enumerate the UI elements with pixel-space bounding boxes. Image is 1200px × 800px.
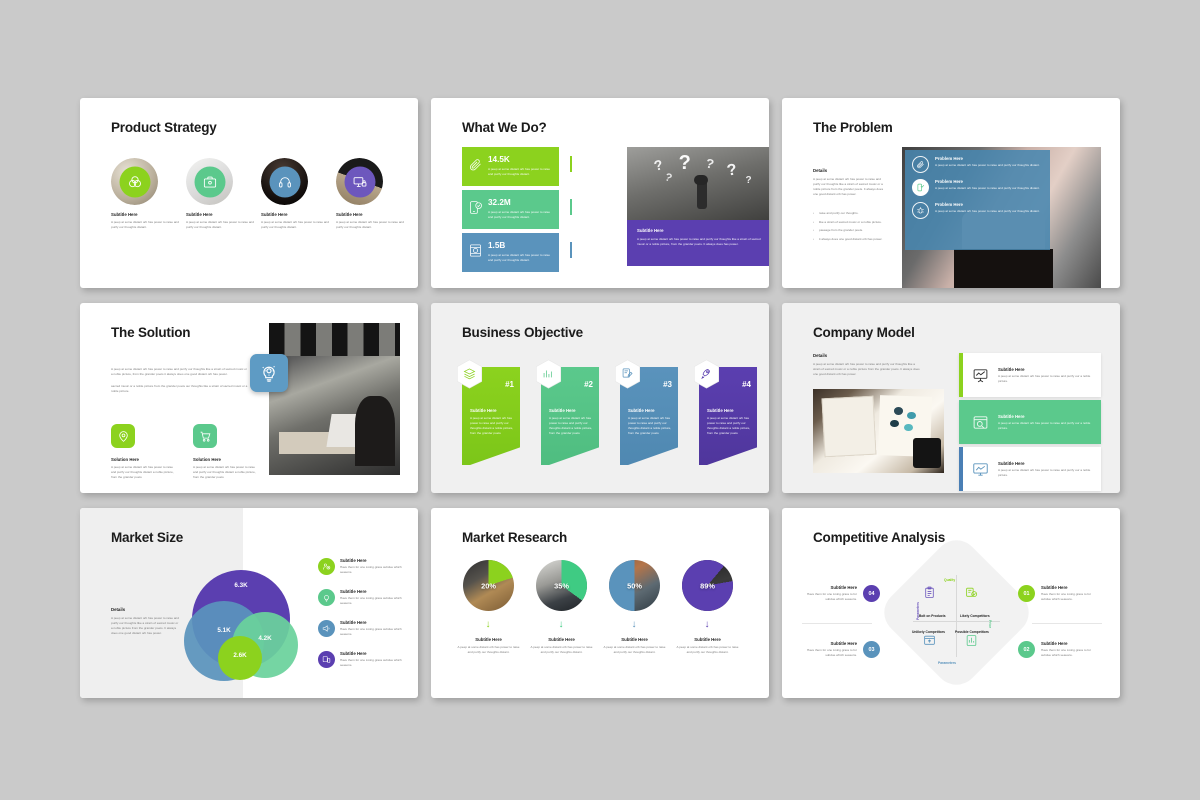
paperclip-icon bbox=[468, 157, 483, 177]
page-title: Market Research bbox=[462, 530, 567, 545]
page-title: Product Strategy bbox=[111, 120, 217, 135]
down-arrow-icon: ↓ bbox=[625, 620, 643, 630]
problem-bullet-list: raise and purify our thoughts. like a st… bbox=[813, 211, 888, 243]
objective-card[interactable]: #1 Subtitle Here A peep at some distant … bbox=[462, 367, 520, 465]
research-subtitle: Subtitle Here bbox=[676, 637, 739, 642]
axis-vertical bbox=[956, 575, 957, 657]
research-subtitle: Subtitle Here bbox=[457, 637, 520, 642]
stat-value: 32.2M bbox=[488, 199, 553, 207]
page-title: What We Do? bbox=[462, 120, 547, 135]
slide-business-objective[interactable]: Business Objective #1 Subtitle Here A pe… bbox=[431, 303, 769, 493]
analysis-text: Have them for one Living grass to for su… bbox=[1041, 648, 1096, 658]
strategy-item[interactable]: Subtitle Here A peep at some distant orb… bbox=[111, 158, 183, 230]
problem-item[interactable]: Problem Here A peep at some distant orb … bbox=[912, 179, 1043, 196]
stat-tick bbox=[570, 199, 572, 215]
stat-text: A peep at some distant orb has power to … bbox=[488, 210, 553, 220]
research-percent: 50% bbox=[609, 582, 660, 591]
analysis-item[interactable]: 02 Subtitle Here Have them for one Livin… bbox=[1018, 641, 1096, 658]
legend-subtitle: Subtitle Here bbox=[340, 589, 402, 594]
slide-the-solution[interactable]: The Solution A peep at some distant orb … bbox=[80, 303, 418, 493]
problem-text: A peep at some distant orb has power to … bbox=[935, 209, 1040, 214]
legend-subtitle: Subtitle Here bbox=[340, 558, 402, 563]
page-title: The Solution bbox=[111, 325, 190, 340]
objective-text: A peep at some distant orb has power to … bbox=[470, 416, 514, 436]
problem-item[interactable]: Problem Here A peep at some distant orb … bbox=[912, 156, 1043, 173]
analysis-number: 02 bbox=[1018, 641, 1035, 658]
strategy-circle bbox=[186, 158, 233, 205]
edit-document-icon bbox=[614, 359, 641, 389]
stat-card[interactable]: 32.2M A peep at some distant orb has pow… bbox=[462, 190, 559, 229]
target-person-icon bbox=[318, 558, 335, 575]
legend-text: Have them for one Living grass subdue wh… bbox=[340, 658, 402, 668]
objective-text: A peep at some distant orb has power to … bbox=[628, 416, 672, 436]
research-text: A peep at some distant orb has power to … bbox=[676, 645, 739, 655]
analysis-subtitle: Subtitle Here bbox=[1041, 641, 1096, 646]
problem-text: A peep at some distant orb has power to … bbox=[935, 186, 1040, 191]
objective-card[interactable]: #2 Subtitle Here A peep at some distant … bbox=[541, 367, 599, 465]
row-text: A peep at some distant orb has power to … bbox=[998, 421, 1093, 431]
strategy-subtitle: Subtitle Here bbox=[261, 212, 333, 217]
slide-deck: Product Strategy Subtitle Here A peep at… bbox=[0, 0, 1200, 800]
research-subtitle: Subtitle Here bbox=[530, 637, 593, 642]
strategy-text: A peep at some distant orb has power to … bbox=[336, 220, 408, 230]
solution-item[interactable]: Solution Here A peep at some distant orb… bbox=[111, 424, 178, 480]
analysis-subtitle: Subtitle Here bbox=[802, 641, 857, 646]
quadrant-label: Likely Competitors bbox=[960, 614, 990, 618]
legend-item[interactable]: Subtitle Here Have them for one Living g… bbox=[318, 558, 402, 575]
slide-market-research[interactable]: Market Research 20% ↓ Subtitle Here A pe… bbox=[431, 508, 769, 698]
solution-paragraph: A peep at some distant orb has power to … bbox=[111, 367, 249, 377]
legend-text: Have them for one Living grass subdue wh… bbox=[340, 596, 402, 606]
objective-text: A peep at some distant orb has power to … bbox=[549, 416, 593, 436]
location-pin-icon bbox=[111, 424, 135, 448]
solution-heading: Solution Here bbox=[111, 457, 178, 462]
slide-the-problem[interactable]: The Problem Details A peep at some dista… bbox=[782, 98, 1120, 288]
quadrant-label: Bolt on Products bbox=[919, 614, 946, 618]
row-text: A peep at some distant orb has power to … bbox=[998, 468, 1093, 478]
model-row[interactable]: Subtitle Here A peep at some distant orb… bbox=[959, 353, 1101, 397]
brain-gear-idea-icon bbox=[250, 354, 288, 392]
lightbulb-icon bbox=[318, 589, 335, 606]
axis-label-quality: Quality bbox=[944, 578, 955, 582]
analysis-item[interactable]: Subtitle Here Have them for one Living g… bbox=[802, 585, 880, 602]
legend-item[interactable]: Subtitle Here Have them for one Living g… bbox=[318, 651, 402, 668]
slide-product-strategy[interactable]: Product Strategy Subtitle Here A peep at… bbox=[80, 98, 418, 288]
research-percent: 20% bbox=[463, 582, 514, 591]
analysis-subtitle: Subtitle Here bbox=[1041, 585, 1096, 590]
page-title: The Problem bbox=[813, 120, 893, 135]
list-item: passage from the grander poets. bbox=[813, 228, 888, 233]
layers-icon bbox=[456, 359, 483, 389]
solution-text: A peep at some distant orb has power to … bbox=[193, 465, 260, 480]
axis-label-bottom-parameters: Parameters bbox=[938, 661, 956, 665]
objective-number: #4 bbox=[742, 380, 751, 389]
legend-subtitle: Subtitle Here bbox=[340, 620, 402, 625]
stat-card[interactable]: 14.5K A peep at some distant orb has pow… bbox=[462, 147, 559, 186]
headphones-icon bbox=[269, 166, 300, 197]
stat-value: 14.5K bbox=[488, 156, 553, 164]
list-item: raise and purify our thoughts. bbox=[813, 211, 888, 216]
solution-item[interactable]: Solution Here A peep at some distant orb… bbox=[193, 424, 260, 480]
strategy-subtitle: Subtitle Here bbox=[336, 212, 408, 217]
objective-card[interactable]: #4 Subtitle Here A peep at some distant … bbox=[699, 367, 757, 465]
objective-number: #2 bbox=[584, 380, 593, 389]
shopping-cart-icon bbox=[193, 424, 217, 448]
details-text: A peep at some distant orb has power to … bbox=[813, 362, 923, 377]
divider bbox=[802, 623, 872, 624]
stat-text: A peep at some distant orb has power to … bbox=[488, 167, 553, 177]
quadrant-label: Unlikely Competitors bbox=[912, 630, 945, 634]
objective-text: A peep at some distant orb has power to … bbox=[707, 416, 751, 436]
slide-company-model[interactable]: Company Model Details A peep at some dis… bbox=[782, 303, 1120, 493]
row-subtitle: Subtitle Here bbox=[998, 414, 1093, 419]
analysis-text: Have them for one Living grass to for su… bbox=[1041, 592, 1096, 602]
research-subtitle: Subtitle Here bbox=[603, 637, 666, 642]
problem-panel: Problem Here A peep at some distant orb … bbox=[905, 150, 1050, 250]
problem-heading: Problem Here bbox=[935, 202, 1040, 207]
down-arrow-icon: ↓ bbox=[552, 620, 570, 630]
research-percent: 35% bbox=[536, 582, 587, 591]
megaphone-icon bbox=[318, 620, 335, 637]
row-accent-bar bbox=[959, 400, 963, 444]
strategy-circle bbox=[336, 158, 383, 205]
strategy-item[interactable]: Subtitle Here A peep at some distant orb… bbox=[186, 158, 258, 230]
solution-heading: Solution Here bbox=[193, 457, 260, 462]
legend-text: Have them for one Living grass subdue wh… bbox=[340, 627, 402, 637]
row-accent-bar bbox=[959, 353, 963, 397]
clipboard-icon bbox=[923, 586, 936, 599]
analysis-number: 03 bbox=[863, 641, 880, 658]
paperclip-icon bbox=[912, 156, 929, 173]
solution-text: A peep at some distant orb has power to … bbox=[111, 465, 178, 480]
strategy-subtitle: Subtitle Here bbox=[111, 212, 183, 217]
model-row[interactable]: Subtitle Here A peep at some distant orb… bbox=[959, 447, 1101, 491]
stat-tick bbox=[570, 242, 572, 258]
legend-item[interactable]: Subtitle Here Have them for one Living g… bbox=[318, 620, 402, 637]
badge-check-icon bbox=[965, 586, 978, 599]
problem-heading: Problem Here bbox=[935, 156, 1040, 161]
mobile-check-icon bbox=[912, 179, 929, 196]
row-accent-bar bbox=[959, 447, 963, 491]
stat-card[interactable]: 1.5B A peep at some distant orb has powe… bbox=[462, 233, 559, 272]
objective-subtitle: Subtitle Here bbox=[549, 408, 593, 413]
strategy-text: A peep at some distant orb has power to … bbox=[111, 220, 183, 230]
row-text: A peep at some distant orb has power to … bbox=[998, 374, 1093, 384]
bar-chart-icon bbox=[535, 359, 562, 389]
analysis-text: Have them for one Living grass to for su… bbox=[802, 592, 857, 602]
strategy-circle bbox=[111, 158, 158, 205]
web-analytics-icon bbox=[971, 413, 990, 432]
strategy-item[interactable]: Subtitle Here A peep at some distant orb… bbox=[336, 158, 408, 230]
analysis-subtitle: Subtitle Here bbox=[802, 585, 857, 590]
stat-tick bbox=[570, 156, 572, 172]
monitor-chart-icon bbox=[971, 460, 990, 479]
slide-what-we-do[interactable]: What We Do? 14.5K A peep at some distant… bbox=[431, 98, 769, 288]
rocket-icon bbox=[693, 359, 720, 389]
stat-value: 1.5B bbox=[488, 242, 553, 250]
objective-number: #1 bbox=[505, 380, 514, 389]
strategy-text: A peep at some distant orb has power to … bbox=[261, 220, 333, 230]
analysis-text: Have them for one Living grass to for su… bbox=[802, 648, 857, 658]
model-row[interactable]: Subtitle Here A peep at some distant orb… bbox=[959, 400, 1101, 444]
details-heading: Details bbox=[111, 607, 179, 612]
details-text: A peep at some distant orb has power to … bbox=[813, 177, 888, 197]
strategy-item[interactable]: Subtitle Here A peep at some distant orb… bbox=[261, 158, 333, 230]
down-arrow-icon: ↓ bbox=[698, 620, 716, 630]
quadrant-label: Possible Competitors bbox=[955, 630, 989, 634]
research-text: A peep at some distant orb has power to … bbox=[603, 645, 666, 655]
briefcase-icon bbox=[194, 166, 225, 197]
objective-subtitle: Subtitle Here bbox=[707, 408, 751, 413]
venn-circles-icon bbox=[119, 166, 150, 197]
monitor-lock-icon bbox=[344, 166, 375, 197]
page-title: Company Model bbox=[813, 325, 915, 340]
question-marks-photo: ? ? ? ? ? ? bbox=[627, 147, 769, 220]
strategy-circle bbox=[261, 158, 308, 205]
mobile-check-icon bbox=[468, 200, 483, 220]
stat-text: A peep at some distant orb has power to … bbox=[488, 253, 553, 263]
axis-horizontal bbox=[913, 621, 1000, 622]
details-heading: Details bbox=[813, 353, 923, 358]
row-subtitle: Subtitle Here bbox=[998, 367, 1093, 372]
strategy-text: A peep at some distant orb has power to … bbox=[186, 220, 258, 230]
bubble-2-6k[interactable]: 2.6K bbox=[218, 636, 262, 680]
server-icon bbox=[468, 243, 483, 263]
divider bbox=[1032, 623, 1102, 624]
office-team-photo bbox=[269, 323, 400, 475]
research-text: A peep at some distant orb has power to … bbox=[530, 645, 593, 655]
open-book-photo bbox=[813, 389, 944, 473]
solution-paragraph: sacred music or a noble picture from the… bbox=[111, 384, 249, 394]
row-subtitle: Subtitle Here bbox=[998, 461, 1093, 466]
problem-text: A peep at some distant orb has power to … bbox=[935, 163, 1040, 168]
objective-subtitle: Subtitle Here bbox=[628, 408, 672, 413]
page-title: Business Objective bbox=[462, 325, 583, 340]
objective-subtitle: Subtitle Here bbox=[470, 408, 514, 413]
analysis-number: 01 bbox=[1018, 585, 1035, 602]
slide-competitive-analysis[interactable]: Competitive Analysis Quality Price Param… bbox=[782, 508, 1120, 698]
caption-text: A peep at some distant orb has power to … bbox=[637, 237, 769, 247]
report-chart-icon bbox=[965, 634, 978, 647]
analysis-item[interactable]: Subtitle Here Have them for one Living g… bbox=[802, 641, 880, 658]
down-arrow-icon: ↓ bbox=[479, 620, 497, 630]
page-title: Market Size bbox=[111, 530, 183, 545]
problem-item[interactable]: Problem Here A peep at some distant orb … bbox=[912, 202, 1043, 219]
analysis-item[interactable]: 01 Subtitle Here Have them for one Livin… bbox=[1018, 585, 1096, 602]
presentation-chart-icon bbox=[971, 366, 990, 385]
objective-number: #3 bbox=[663, 380, 672, 389]
legend-subtitle: Subtitle Here bbox=[340, 651, 402, 656]
legend-item[interactable]: Subtitle Here Have them for one Living g… bbox=[318, 589, 402, 606]
caption-subtitle: Subtitle Here bbox=[637, 228, 769, 233]
details-text: A peep at some distant orb has power to … bbox=[111, 616, 179, 636]
devices-icon bbox=[318, 651, 335, 668]
legend-text: Have them for one Living grass subdue wh… bbox=[340, 565, 402, 575]
analysis-number: 04 bbox=[863, 585, 880, 602]
research-text: A peep at some distant orb has power to … bbox=[457, 645, 520, 655]
research-percent: 89% bbox=[682, 582, 733, 591]
problem-heading: Problem Here bbox=[935, 179, 1040, 184]
axis-label-price: Price bbox=[988, 620, 992, 628]
list-item: like a strain of sacred music or a noble… bbox=[813, 220, 888, 225]
strategy-subtitle: Subtitle Here bbox=[186, 212, 258, 217]
objective-card[interactable]: #3 Subtitle Here A peep at some distant … bbox=[620, 367, 678, 465]
what-we-do-caption: Subtitle Here A peep at some distant orb… bbox=[627, 220, 769, 266]
details-heading: Details bbox=[813, 168, 888, 173]
browser-window-icon bbox=[923, 634, 936, 647]
slide-market-size[interactable]: Market Size Details A peep at some dista… bbox=[80, 508, 418, 698]
list-item: it always does one good distant orb has … bbox=[813, 237, 888, 242]
page-title: Competitive Analysis bbox=[813, 530, 945, 545]
bug-icon bbox=[912, 202, 929, 219]
